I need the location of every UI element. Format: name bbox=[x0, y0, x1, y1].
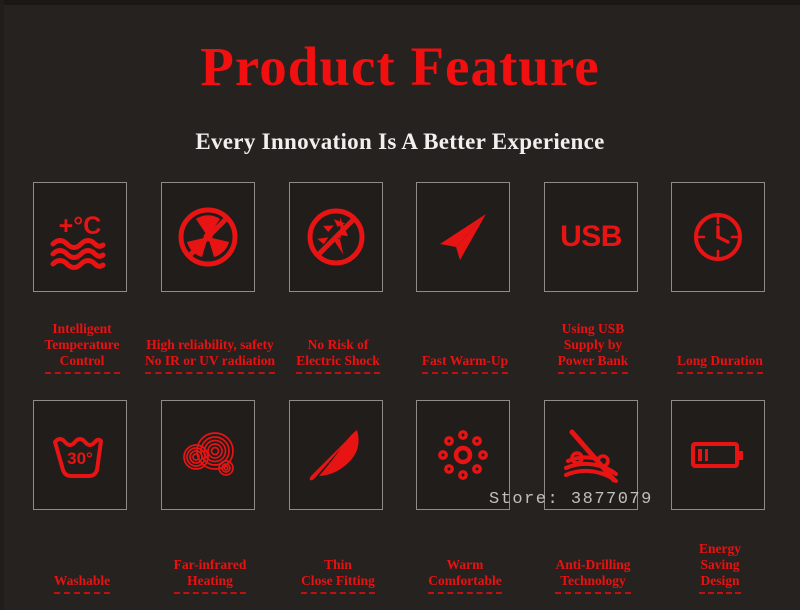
battery-icon bbox=[685, 422, 751, 488]
feature-label-box: High reliability, safety No IR or UV rad… bbox=[145, 302, 275, 374]
feature-label: No Risk of Electric Shock bbox=[296, 337, 380, 374]
feature-card-no-electric-shock[interactable] bbox=[289, 182, 383, 292]
feature-card-intelligent-temperature-control[interactable]: +°C bbox=[33, 182, 127, 292]
feature-label: Anti-Drilling Technology bbox=[555, 557, 630, 594]
feature-label-box: Fast Warm-Up bbox=[400, 302, 530, 374]
feature-label-box: Thin Close Fitting bbox=[273, 522, 403, 594]
feature-card-washable[interactable]: 30° bbox=[33, 400, 127, 510]
temperature-waves-icon: +°C bbox=[47, 204, 113, 270]
page-title: Product Feature bbox=[0, 36, 800, 98]
feature-label: Fast Warm-Up bbox=[422, 353, 508, 374]
feature-card-far-infrared-heating[interactable] bbox=[161, 400, 255, 510]
feature-card-thin-close-fitting[interactable] bbox=[289, 400, 383, 510]
paper-plane-icon bbox=[430, 204, 496, 270]
clock-icon bbox=[685, 204, 751, 270]
feature-label-box: Using USB Supply by Power Bank bbox=[528, 302, 658, 374]
feature-label: Using USB Supply by Power Bank bbox=[558, 321, 629, 374]
store-watermark: Store: 3877079 bbox=[489, 490, 653, 509]
feature-label-box: Far-infrared Heating bbox=[145, 522, 275, 594]
feature-label: High reliability, safety No IR or UV rad… bbox=[145, 337, 275, 374]
feature-label-box: Warm Comfortable bbox=[400, 522, 530, 594]
feature-cell: High reliability, safety No IR or UV rad… bbox=[161, 182, 257, 292]
anti-drilling-icon bbox=[558, 422, 624, 488]
feature-card-usb-power-bank[interactable]: USB bbox=[544, 182, 638, 292]
page-subtitle: Every Innovation Is A Better Experience bbox=[0, 127, 800, 157]
feature-label: Energy Saving Design bbox=[699, 541, 741, 594]
far-infrared-waves-icon bbox=[175, 422, 241, 488]
feature-label-box: Energy Saving Design bbox=[655, 522, 785, 594]
feature-card-long-duration[interactable] bbox=[671, 182, 765, 292]
feature-label-box: Long Duration bbox=[655, 302, 785, 374]
feature-label-box: No Risk of Electric Shock bbox=[273, 302, 403, 374]
feature-label: Thin Close Fitting bbox=[301, 557, 375, 594]
feature-cell: Energy Saving Design bbox=[671, 400, 767, 510]
washable-basin-icon: 30° bbox=[47, 422, 113, 488]
feature-label: Intelligent Temperature Control bbox=[45, 321, 120, 374]
top-edge-strip bbox=[0, 0, 800, 5]
feature-label: Far-infrared Heating bbox=[174, 557, 247, 594]
feature-card-energy-saving-design[interactable] bbox=[671, 400, 765, 510]
feature-cell: Far-infrared Heating bbox=[161, 400, 257, 510]
feature-card-fast-warm-up[interactable] bbox=[416, 182, 510, 292]
feature-card-no-radiation[interactable] bbox=[161, 182, 255, 292]
feature-cell: 30° Washable bbox=[33, 400, 129, 510]
feature-label: Long Duration bbox=[677, 353, 763, 374]
no-electric-shock-icon bbox=[303, 204, 369, 270]
no-radiation-icon bbox=[175, 204, 241, 270]
feature-cell: USB Using USB Supply by Power Bank bbox=[544, 182, 640, 292]
feature-label-box: Washable bbox=[17, 522, 147, 594]
feature-cell: Long Duration bbox=[671, 182, 767, 292]
feature-cell: Fast Warm-Up bbox=[416, 182, 512, 292]
sun-dots-icon bbox=[430, 422, 496, 488]
feature-label-box: Anti-Drilling Technology bbox=[528, 522, 658, 594]
feature-cell: Thin Close Fitting bbox=[289, 400, 385, 510]
feather-icon bbox=[303, 422, 369, 488]
usb-text-icon: USB bbox=[560, 222, 622, 252]
svg-text:30°: 30° bbox=[67, 449, 93, 468]
feature-label: Warm Comfortable bbox=[428, 557, 501, 594]
svg-text:+°C: +°C bbox=[59, 212, 102, 240]
feature-label: Washable bbox=[54, 573, 110, 594]
feature-cell: +°C Intelligent Temperature Control bbox=[33, 182, 129, 292]
product-feature-poster: Product Feature Every Innovation Is A Be… bbox=[0, 0, 800, 610]
feature-label-box: Intelligent Temperature Control bbox=[17, 302, 147, 374]
feature-cell: No Risk of Electric Shock bbox=[289, 182, 385, 292]
